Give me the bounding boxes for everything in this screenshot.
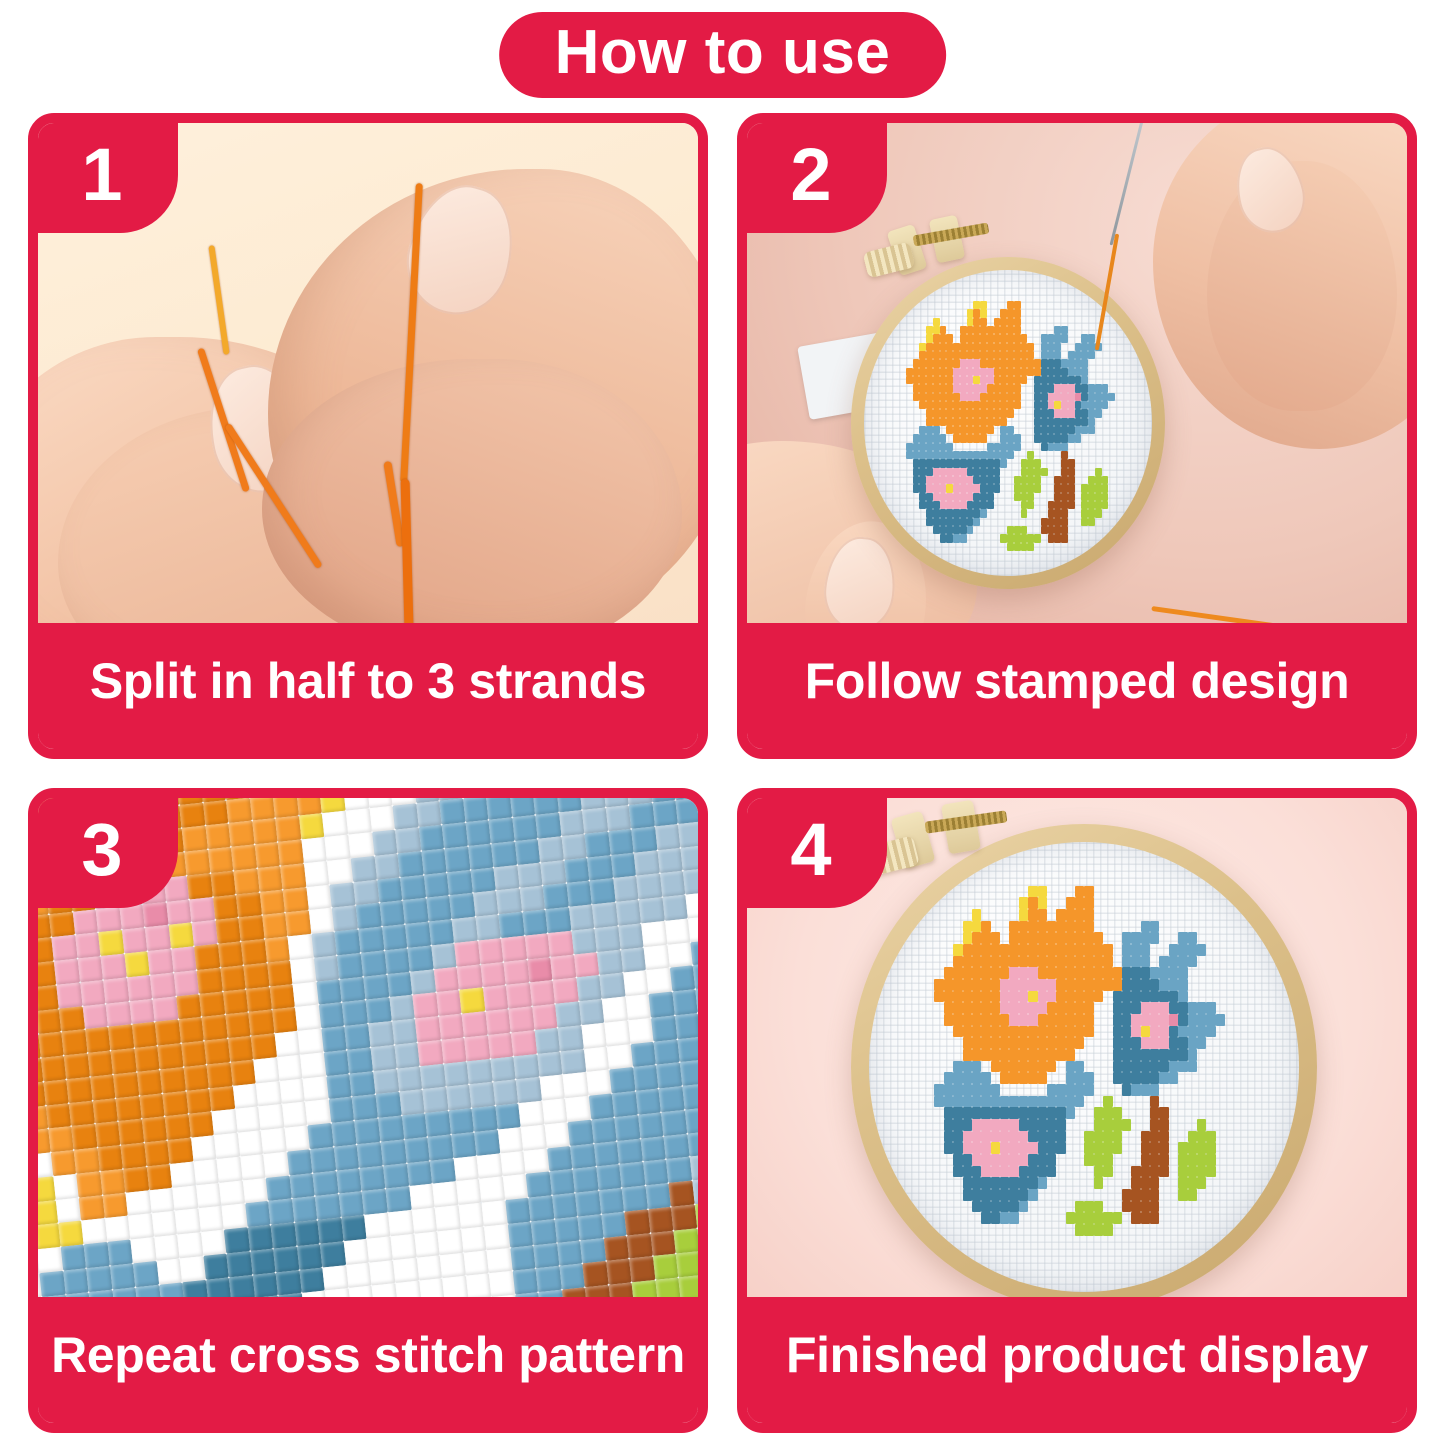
step-caption-text-3: Repeat cross stitch pattern [51, 1326, 685, 1384]
step-panel-1: 1 Split in half to 3 strands [28, 113, 708, 759]
page-title: How to use [499, 12, 947, 98]
flower-stitch-pattern-2 [899, 301, 1115, 551]
flower-stitch-pattern-4 [925, 886, 1225, 1236]
step-panel-3: 3 Repeat cross stitch pattern [28, 788, 708, 1434]
step-caption-text-1: Split in half to 3 strands [90, 652, 646, 710]
step-caption-2: Follow stamped design [747, 623, 1407, 749]
step-number-badge-1: 1 [36, 121, 178, 233]
right-hand-fingers [262, 359, 682, 647]
step-panel-4: 4 Finished product display [737, 788, 1417, 1434]
step-number-4: 4 [790, 813, 831, 887]
step-number-3: 3 [81, 813, 122, 887]
step-caption-text-2: Follow stamped design [805, 652, 1349, 710]
step-number-badge-2: 2 [745, 121, 887, 233]
step-caption-1: Split in half to 3 strands [38, 623, 698, 749]
step-caption-4: Finished product display [747, 1297, 1407, 1423]
step-caption-3: Repeat cross stitch pattern [38, 1297, 698, 1423]
step-caption-text-4: Finished product display [786, 1326, 1368, 1384]
step-number-badge-4: 4 [745, 796, 887, 908]
step-number-badge-3: 3 [36, 796, 178, 908]
step-number-1: 1 [81, 138, 122, 212]
steps-grid: 1 Split in half to 3 strands [28, 113, 1417, 1433]
how-to-use-infographic: How to use 1 [0, 0, 1445, 1445]
step-number-2: 2 [790, 138, 831, 212]
step-panel-2: 2 Follow stamped design [737, 113, 1417, 759]
